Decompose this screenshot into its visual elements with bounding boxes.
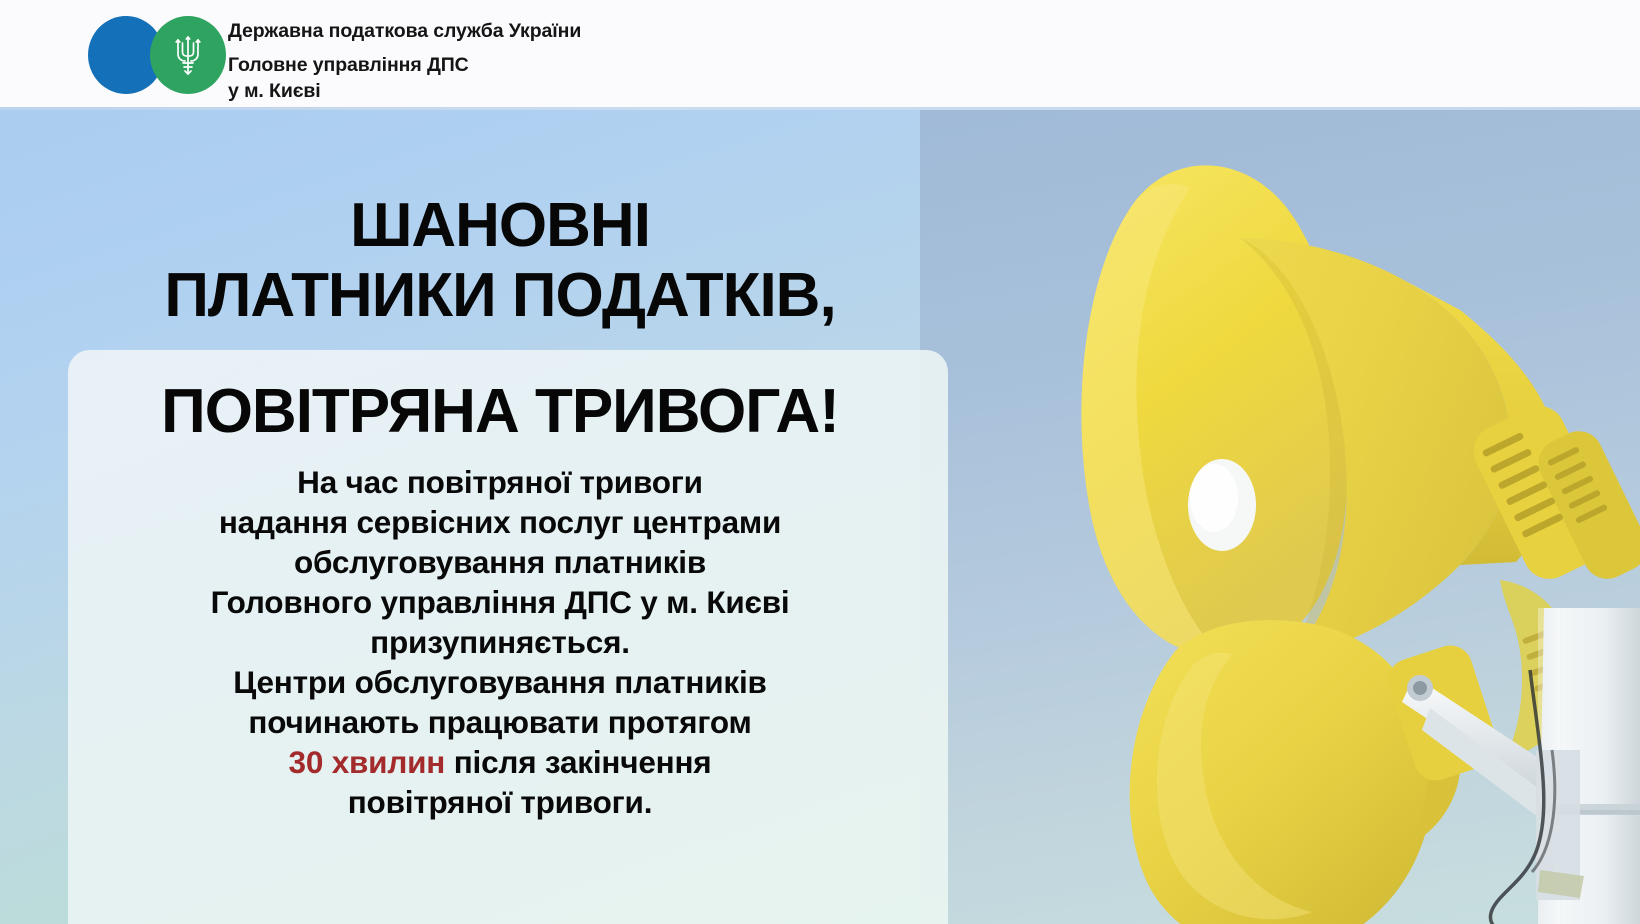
org-name-line-3: у м. Києві <box>228 78 581 104</box>
headline-line-3: ПОВІТРЯНА ТРИВОГА! <box>0 378 1000 446</box>
poster-text-layer: ШАНОВНІ ПЛАТНИКИ ПОДАТКІВ, ПОВІТРЯНА ТРИ… <box>0 110 1000 924</box>
body-line-7: починають працювати протягом <box>0 702 1000 742</box>
org-title-block: Державна податкова служба України Головн… <box>228 18 581 104</box>
body-line-6: Центри обслуговування платників <box>0 662 1000 702</box>
yellow-siren-megaphone-image <box>940 110 1640 924</box>
duration-suffix: після закінчення <box>445 744 711 780</box>
announcement-body: На час повітряної тривоги надання сервіс… <box>0 462 1000 822</box>
org-name-line-1: Державна податкова служба України <box>228 18 581 44</box>
trident-tryzub-icon <box>170 30 206 80</box>
poster-banner: ШАНОВНІ ПЛАТНИКИ ПОДАТКІВ, ПОВІТРЯНА ТРИ… <box>0 110 1640 924</box>
body-line-3: обслуговування платників <box>0 542 1000 582</box>
body-line-8: 30 хвилин після закінчення <box>0 742 1000 782</box>
headline-line-1: ШАНОВНІ <box>0 192 1000 260</box>
headline-line-2: ПЛАТНИКИ ПОДАТКІВ, <box>0 262 1000 330</box>
duration-highlight: 30 хвилин <box>289 744 446 780</box>
dps-logo <box>88 16 230 94</box>
poster-page: Державна податкова служба України Головн… <box>0 0 1640 924</box>
body-line-1: На час повітряної тривоги <box>0 462 1000 502</box>
body-line-9: повітряної тривоги. <box>0 782 1000 822</box>
body-line-2: надання сервісних послуг центрами <box>0 502 1000 542</box>
org-name-line-2: Головне управління ДПС <box>228 52 581 78</box>
body-line-5: призупиняється. <box>0 622 1000 662</box>
site-header: Державна податкова служба України Головн… <box>0 0 1640 110</box>
body-line-4: Головного управління ДПС у м. Києві <box>0 582 1000 622</box>
